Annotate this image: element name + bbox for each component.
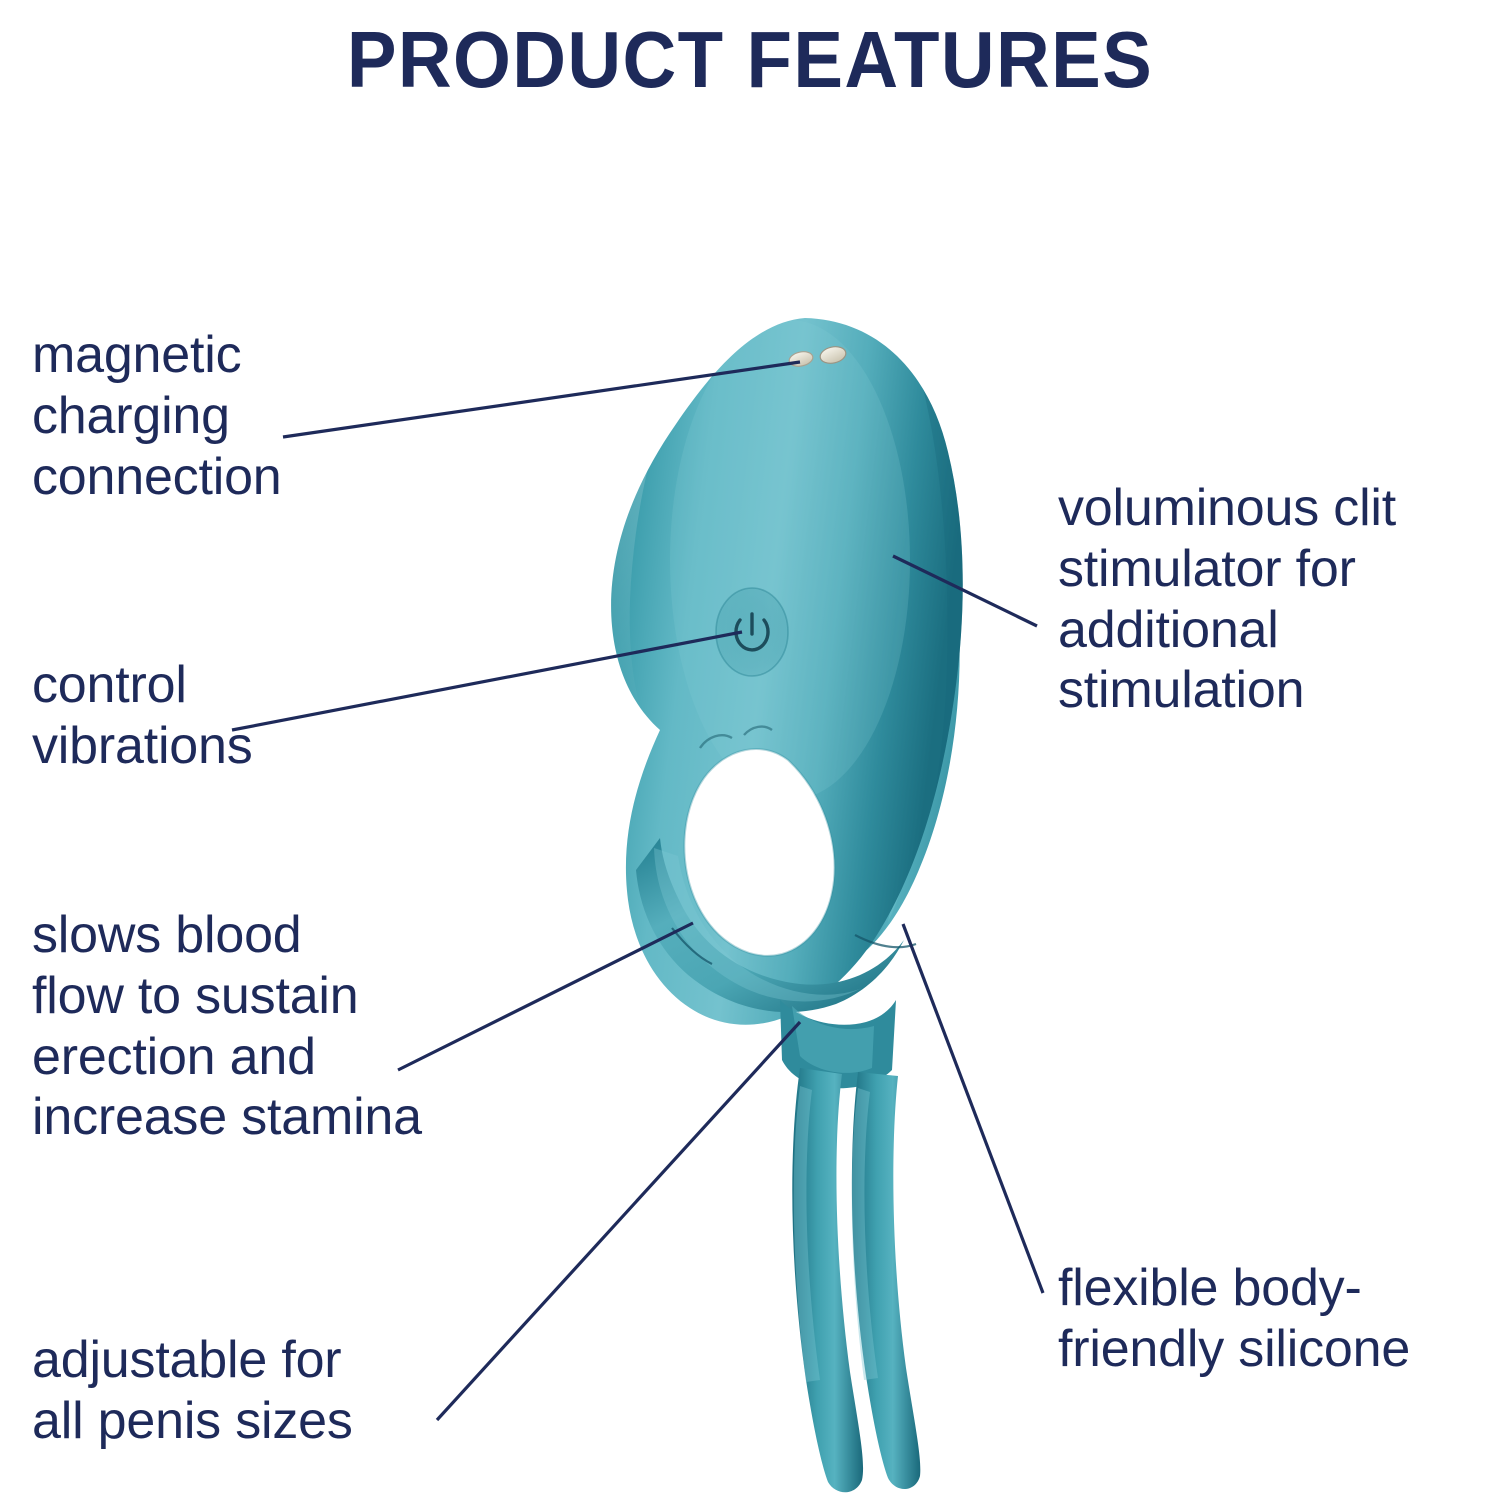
callout-slows-blood-flow: slows blood flow to sustain erection and… [32,905,532,1148]
callout-magnetic-charging-connection: magnetic charging connection [32,325,452,507]
callout-adjustable-for-all-penis-sizes: adjustable for all penis sizes [32,1330,532,1452]
flexible-strap-tail [792,1068,920,1492]
infographic-page: PRODUCT FEATURES [0,0,1500,1500]
callout-control-vibrations: control vibrations [32,655,452,777]
power-button[interactable] [716,588,788,676]
callout-voluminous-clit-stimulator: voluminous clit stimulator for additiona… [1058,478,1488,721]
callout-flexible-body-friendly-silicone: flexible body- friendly silicone [1058,1258,1498,1380]
